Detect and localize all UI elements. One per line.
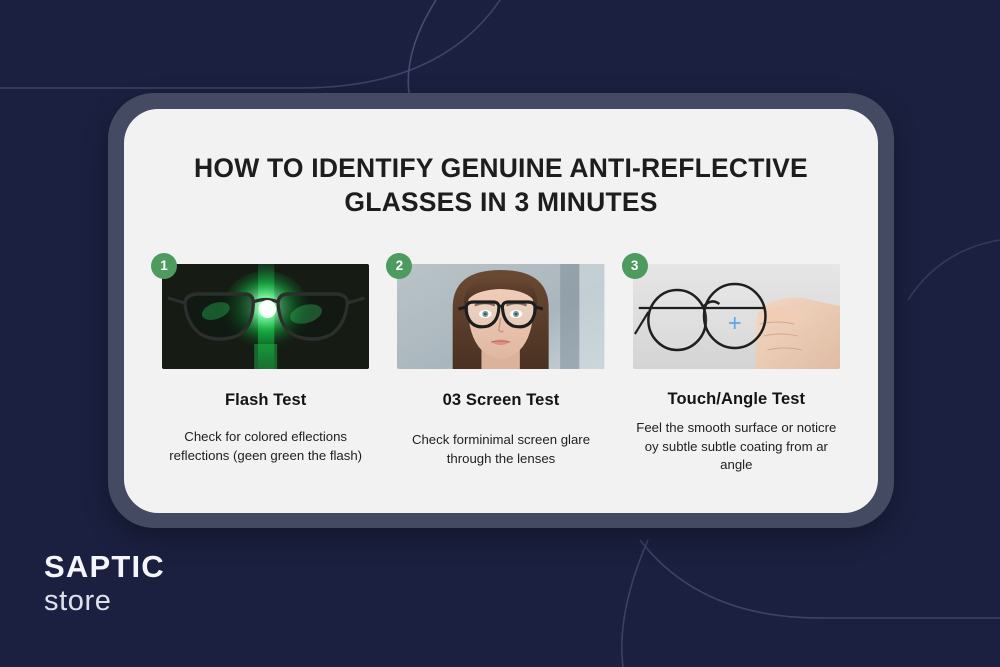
brand-logo: SAPTIC store	[44, 551, 165, 616]
step-badge-3: 3	[622, 253, 648, 279]
thumbnail-wrapper-1: 1	[162, 264, 369, 369]
brand-subtitle: store	[44, 587, 165, 616]
brand-name: SAPTIC	[44, 551, 165, 582]
step-desc-2: Check forminimal screen glare through th…	[397, 431, 604, 468]
step-badge-1: 1	[151, 253, 177, 279]
content-panel: HOW TO IDENTIFY GENUINE ANTI-REFLECTIVE …	[124, 109, 878, 513]
steps-row: 1	[124, 264, 878, 475]
page-title: HOW TO IDENTIFY GENUINE ANTI-REFLECTIVE …	[124, 151, 878, 220]
step-title-2: 03 Screen Test	[397, 391, 604, 410]
step-title-1: Flash Test	[162, 391, 369, 410]
step-card-2: 2	[397, 264, 604, 475]
step-desc-1: Check for colored eflections reflections…	[162, 428, 369, 465]
step-card-3: 3	[633, 264, 840, 475]
thumbnail-wrapper-2: 2	[397, 264, 604, 369]
content-panel-frame: HOW TO IDENTIFY GENUINE ANTI-REFLECTIVE …	[108, 93, 894, 528]
step-desc-3: Feel the smooth surface or noticre oy su…	[633, 419, 840, 475]
hand-holding-glasses-photo	[633, 264, 840, 369]
glasses-green-flash-photo	[162, 264, 369, 369]
thumbnail-wrapper-3: 3	[633, 264, 840, 369]
woman-wearing-glasses-photo	[397, 264, 604, 369]
step-title-3: Touch/Angle Test	[633, 390, 840, 409]
step-card-1: 1	[162, 264, 369, 475]
